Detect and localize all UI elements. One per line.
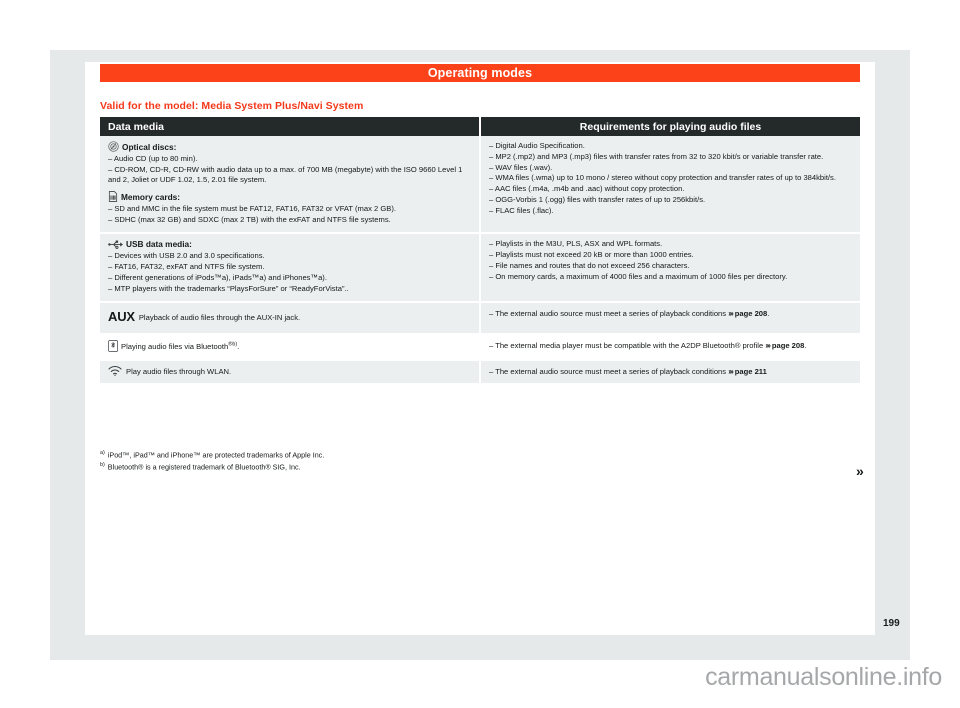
cell-requirements-audio-formats: – Digital Audio Specification. – MP2 (.m… (480, 136, 860, 233)
chevron-right-icon: ››› (728, 367, 732, 376)
cell-data-media-discs-cards: Optical discs: – Audio CD (up to 80 min)… (100, 136, 480, 233)
text-line: – Playlists must not exceed 20 kB or mor… (489, 250, 852, 261)
text-line: – SD and MMC in the file system must be … (108, 204, 471, 215)
footnote-item: b)Bluetooth® is a registered trademark o… (100, 461, 520, 473)
table-row: Optical discs: – Audio CD (up to 80 min)… (100, 136, 860, 233)
cell-data-media-bluetooth: Playing audio files via Bluetooth®b). (100, 334, 480, 360)
footnote-marker-a: a) (100, 450, 105, 456)
page-reference-label: page 211 (735, 367, 767, 376)
text-trailing: . (804, 341, 806, 350)
text-line: – WMA files (.wma) up to 10 mono / stere… (489, 173, 852, 184)
chapter-title: Operating modes (428, 66, 532, 80)
page-reference-label: page 208 (772, 341, 805, 350)
cell-requirements-bluetooth: – The external media player must be comp… (480, 334, 860, 360)
cell-data-media-wlan: Play audio files through WLAN. (100, 360, 480, 385)
footnote-marker-b: b) (100, 462, 105, 468)
text-aux-description: Playback of audio files through the AUX-… (139, 313, 300, 322)
footnote-item: a)iPod™, iPad™ and iPhone™ are protected… (100, 449, 520, 461)
page-root: Operating modes Valid for the model: Med… (0, 0, 960, 708)
footnote-text: Bluetooth® is a registered trademark of … (108, 462, 301, 471)
text-line: – CD-ROM, CD-R, CD-RW with audio data up… (108, 165, 471, 187)
chapter-banner: Operating modes (100, 64, 860, 82)
cell-requirements-aux: – The external audio source must meet a … (480, 302, 860, 333)
text-line: – The external media player must be comp… (489, 341, 765, 350)
text-trailing: . (237, 342, 239, 351)
group-memory-cards: Memory cards: – SD and MMC in the file s… (108, 191, 471, 225)
text-line: – OGG-Vorbis 1 (.ogg) files with transfe… (489, 195, 852, 206)
text-line: – WAV files (.wav). (489, 163, 852, 174)
chevron-right-icon: ››› (728, 309, 732, 318)
cell-requirements-wlan: – The external audio source must meet a … (480, 360, 860, 385)
text-line: – Digital Audio Specification. (489, 141, 852, 152)
text-bluetooth-description: Playing audio files via Bluetooth (121, 342, 228, 351)
text-line: – MP2 (.mp2) and MP3 (.mp3) files with t… (489, 152, 852, 163)
text-line: – The external audio source must meet a … (489, 367, 728, 376)
media-requirements-table: Data media Requirements for playing audi… (100, 117, 860, 385)
column-header-requirements: Requirements for playing audio files (480, 117, 860, 136)
watermark-text: carmanualsonline.info (0, 663, 960, 692)
text-wlan-description: Play audio files through WLAN. (126, 367, 231, 376)
wifi-icon (108, 366, 122, 376)
text-line: – Audio CD (up to 80 min). (108, 154, 471, 165)
text-line: – The external audio source must meet a … (489, 309, 728, 318)
table-row: USB data media: – Devices with USB 2.0 a… (100, 233, 860, 302)
page-reference-link[interactable]: ››› page 208 (765, 341, 804, 350)
column-header-data-media: Data media (100, 117, 480, 136)
optical-disc-icon (108, 141, 119, 152)
text-line: – Different generations of iPods™a), iPa… (108, 273, 471, 284)
page-reference-link[interactable]: ››› page 211 (728, 367, 767, 376)
model-validity-subtitle: Valid for the model: Media System Plus/N… (100, 100, 363, 112)
page-reference-label: page 208 (735, 309, 768, 318)
group-usb-data-media: USB data media: – Devices with USB 2.0 a… (108, 239, 471, 294)
text-line: – Playlists in the M3U, PLS, ASX and WPL… (489, 239, 852, 250)
text-line: – FAT16, FAT32, exFAT and NTFS file syst… (108, 262, 471, 273)
chevron-right-icon: ››› (765, 341, 769, 350)
text-trailing: . (767, 309, 769, 318)
footnote-text: iPod™, iPad™ and iPhone™ are protected t… (108, 450, 325, 459)
text-line: – File names and routes that do not exce… (489, 261, 852, 272)
heading-optical-discs: Optical discs: (122, 142, 176, 152)
text-line: – Devices with USB 2.0 and 3.0 specifica… (108, 251, 471, 262)
text-line: – On memory cards, a maximum of 4000 fil… (489, 272, 852, 283)
heading-usb-data-media: USB data media: (126, 239, 192, 249)
page-reference-link[interactable]: ››› page 208 (728, 309, 767, 318)
memory-card-icon (108, 191, 118, 202)
footnotes-block: a)iPod™, iPad™ and iPhone™ are protected… (100, 449, 520, 473)
table-row: Playing audio files via Bluetooth®b). – … (100, 334, 860, 360)
text-line: – SDHC (max 32 GB) and SDXC (max 2 TB) w… (108, 215, 471, 226)
group-optical-discs: Optical discs: – Audio CD (up to 80 min)… (108, 141, 471, 186)
bluetooth-icon (108, 340, 118, 352)
continues-next-page-icon: » (856, 463, 863, 479)
text-line: – MTP players with the trademarks “Plays… (108, 284, 471, 295)
table-row: AUXPlayback of audio files through the A… (100, 302, 860, 333)
table-header-row: Data media Requirements for playing audi… (100, 117, 860, 136)
cell-requirements-playlists: – Playlists in the M3U, PLS, ASX and WPL… (480, 233, 860, 302)
page-number: 199 (883, 618, 900, 629)
text-line: – AAC files (.m4a, .m4b and .aac) withou… (489, 184, 852, 195)
text-line: – FLAC files (.flac). (489, 206, 852, 217)
aux-icon: AUX (108, 308, 135, 326)
usb-icon (108, 240, 123, 249)
cell-data-media-usb: USB data media: – Devices with USB 2.0 a… (100, 233, 480, 302)
cell-data-media-aux: AUXPlayback of audio files through the A… (100, 302, 480, 333)
table-row: Play audio files through WLAN. – The ext… (100, 360, 860, 385)
heading-memory-cards: Memory cards: (121, 192, 180, 202)
